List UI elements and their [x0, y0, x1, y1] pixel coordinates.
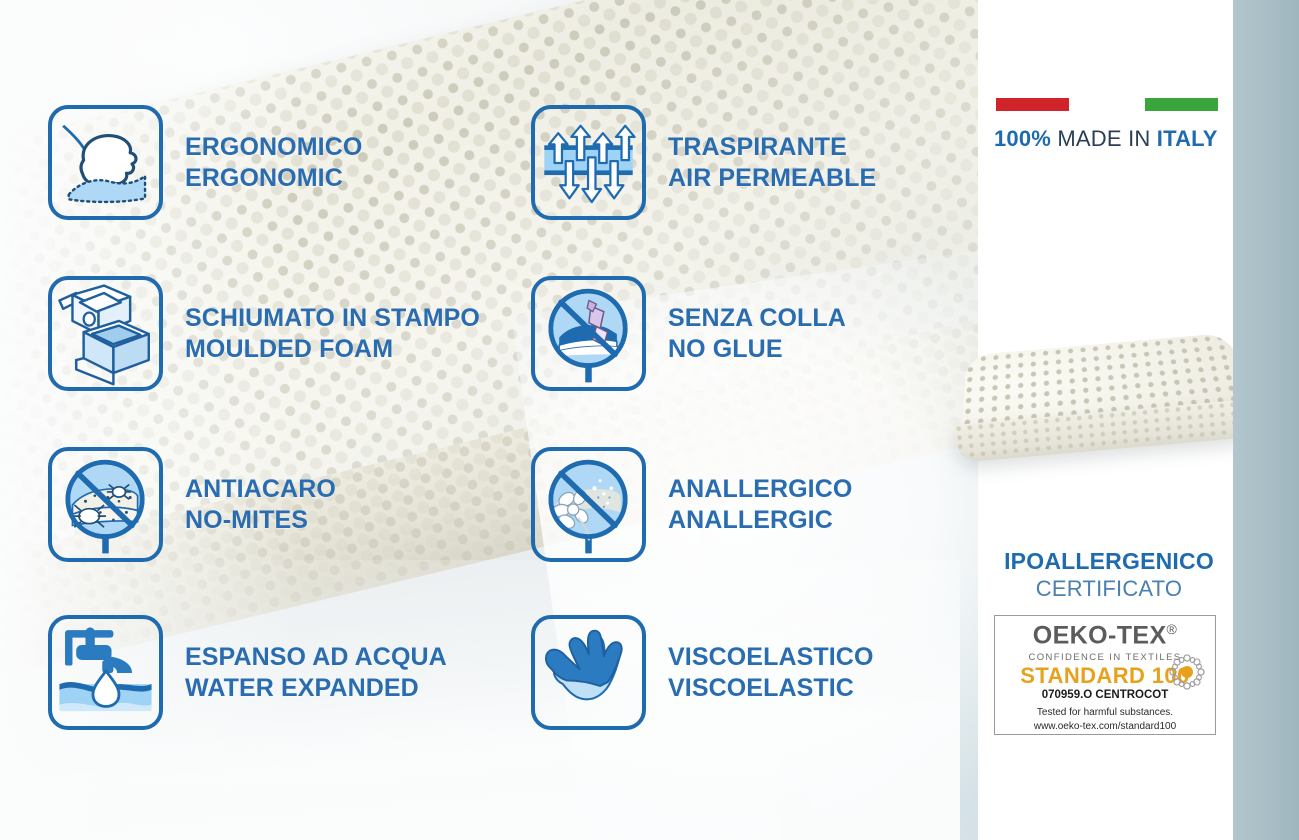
no-mites-prohibition-icon — [48, 447, 163, 562]
feature-label-it: ERGONOMICO — [185, 132, 362, 163]
oeko-tex-label: OEKO-TEX® CONFIDENCE IN TEXTILES STANDAR… — [994, 615, 1216, 735]
feature-label-en: VISCOELASTIC — [668, 673, 874, 704]
flag-stripe-white — [1069, 98, 1144, 111]
product-pillow-image — [938, 326, 1268, 478]
feature-label-it: TRASPIRANTE — [668, 132, 876, 163]
air-permeable-arrows-icon — [531, 105, 646, 220]
certification-line-2: CERTIFICATO — [994, 576, 1224, 602]
feature-label-it: ANTIACARO — [185, 474, 336, 505]
feature-label: SCHIUMATO IN STAMPO MOULDED FOAM — [185, 303, 480, 365]
feature-moulded-foam[interactable]: SCHIUMATO IN STAMPO MOULDED FOAM — [48, 276, 480, 391]
feature-no-glue[interactable]: SENZA COLLA NO GLUE — [531, 276, 846, 391]
feature-label-en: NO-MITES — [185, 505, 336, 536]
pillow-head-ergonomic-icon — [48, 105, 163, 220]
feature-label: ANTIACARO NO-MITES — [185, 474, 336, 536]
italian-flag-bar — [996, 98, 1218, 111]
oeko-tex-sunburst-icon — [1167, 652, 1207, 692]
oeko-tex-note-2: www.oeko-tex.com/standard100 — [995, 720, 1215, 734]
flag-stripe-green — [1145, 98, 1218, 111]
oeko-tex-brand: OEKO-TEX® — [995, 622, 1215, 648]
feature-grid: ERGONOMICO ERGONOMIC — [0, 0, 960, 840]
two-hands-viscoelastic-icon — [531, 615, 646, 730]
feature-label-it: ESPANSO AD ACQUA — [185, 642, 447, 673]
right-info-panel: 100% MADE IN ITALY IPOALLERGENICO CERTIF… — [978, 0, 1233, 840]
no-glue-prohibition-icon — [531, 276, 646, 391]
certification-title: IPOALLERGENICO CERTIFICATO — [994, 548, 1224, 602]
feature-label-it: ANALLERGICO — [668, 474, 852, 505]
feature-label-en: AIR PERMEABLE — [668, 163, 876, 194]
oeko-tex-note-1: Tested for harmful substances. — [995, 706, 1215, 720]
feature-anallergic[interactable]: ANALLERGICO ANALLERGIC — [531, 447, 852, 562]
feature-label: VISCOELASTICO VISCOELASTIC — [668, 642, 874, 704]
oeko-tex-brand-text: OEKO-TEX — [1033, 621, 1167, 649]
feature-label: SENZA COLLA NO GLUE — [668, 303, 846, 365]
feature-label-en: ERGONOMIC — [185, 163, 362, 194]
feature-label: ANALLERGICO ANALLERGIC — [668, 474, 852, 536]
right-edge-band — [1233, 0, 1299, 840]
flag-stripe-red — [996, 98, 1069, 111]
certification-line-1: IPOALLERGENICO — [994, 548, 1224, 575]
registered-trademark-icon: ® — [1167, 621, 1178, 637]
feature-viscoelastic[interactable]: VISCOELASTICO VISCOELASTIC — [531, 615, 874, 730]
made-in-country: ITALY — [1157, 126, 1218, 151]
no-allergen-flower-prohibition-icon — [531, 447, 646, 562]
feature-label: TRASPIRANTE AIR PERMEABLE — [668, 132, 876, 194]
feature-label: ESPANSO AD ACQUA WATER EXPANDED — [185, 642, 447, 704]
feature-label-en: NO GLUE — [668, 334, 846, 365]
made-in-italy-text: 100% MADE IN ITALY — [994, 126, 1224, 152]
feature-label: ERGONOMICO ERGONOMIC — [185, 132, 362, 194]
feature-label-en: WATER EXPANDED — [185, 673, 447, 704]
feature-label-it: VISCOELASTICO — [668, 642, 874, 673]
feature-label-en: ANALLERGIC — [668, 505, 852, 536]
faucet-water-drop-icon — [48, 615, 163, 730]
feature-ergonomic[interactable]: ERGONOMICO ERGONOMIC — [48, 105, 362, 220]
mould-box-icon — [48, 276, 163, 391]
feature-label-en: MOULDED FOAM — [185, 334, 480, 365]
feature-label-it: SCHIUMATO IN STAMPO — [185, 303, 480, 334]
made-in-middle: MADE IN — [1051, 126, 1157, 151]
feature-no-mites[interactable]: ANTIACARO NO-MITES — [48, 447, 336, 562]
feature-air-permeable[interactable]: TRASPIRANTE AIR PERMEABLE — [531, 105, 876, 220]
feature-label-it: SENZA COLLA — [668, 303, 846, 334]
made-in-percent: 100% — [994, 126, 1051, 151]
feature-water-expanded[interactable]: ESPANSO AD ACQUA WATER EXPANDED — [48, 615, 447, 730]
product-infographic: ERGONOMICO ERGONOMIC — [0, 0, 1299, 840]
